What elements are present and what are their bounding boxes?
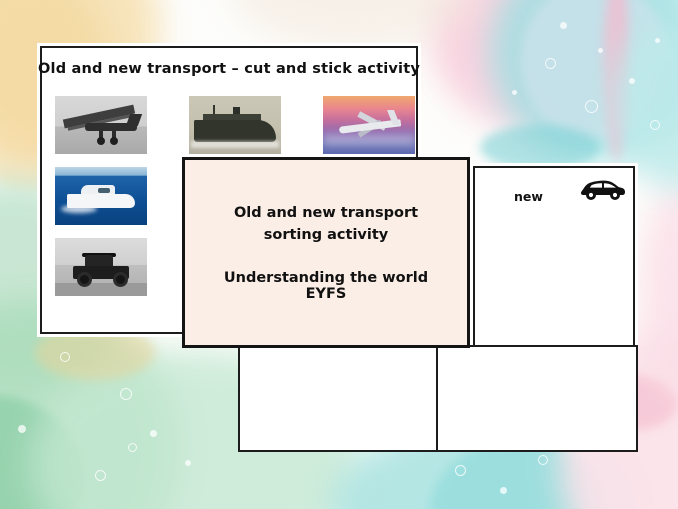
overlay-title-text: Old and new transport sorting activity bbox=[207, 203, 445, 245]
sorting-cell-new[interactable] bbox=[438, 347, 636, 450]
bg-speck bbox=[150, 430, 157, 437]
vintage-monoplane-photo[interactable] bbox=[55, 96, 147, 154]
bg-speck bbox=[629, 78, 635, 84]
bg-speck bbox=[120, 388, 132, 400]
car-wheel-shape bbox=[77, 272, 92, 287]
bg-speck bbox=[95, 470, 106, 481]
bg-speck bbox=[500, 487, 507, 494]
bg-speck bbox=[512, 90, 517, 95]
column-label-new: new bbox=[514, 189, 543, 204]
bg-speck bbox=[585, 100, 598, 113]
image-row bbox=[55, 96, 403, 154]
bg-speck bbox=[560, 22, 567, 29]
car-icon bbox=[580, 176, 626, 202]
overlay-subject-text: Understanding the world EYFS bbox=[207, 270, 445, 302]
bg-speck bbox=[455, 465, 466, 476]
plane-wheel-shape bbox=[97, 137, 105, 145]
sorting-cell-old[interactable] bbox=[240, 347, 438, 450]
bg-speck bbox=[545, 58, 556, 69]
modern-jet-photo[interactable] bbox=[323, 96, 415, 154]
boat-window-shape bbox=[98, 188, 110, 193]
plane-tail-shape bbox=[126, 114, 142, 126]
old-steam-ship-photo[interactable] bbox=[189, 96, 281, 154]
bg-speck bbox=[598, 48, 603, 53]
slide-preview-stage: Old and new transport – cut and stick ac… bbox=[0, 0, 678, 509]
modern-speedboat-photo[interactable] bbox=[55, 167, 147, 225]
bg-speck bbox=[185, 460, 191, 466]
bg-speck bbox=[18, 425, 26, 433]
ship-wake-shape bbox=[191, 141, 279, 148]
car-wheel-shape bbox=[113, 272, 128, 287]
bg-speck bbox=[60, 352, 70, 362]
title-overlay-card[interactable]: Old and new transport sorting activity U… bbox=[182, 157, 470, 348]
car-road-shape bbox=[55, 283, 147, 296]
bg-speck bbox=[128, 443, 137, 452]
ship-hull-shape bbox=[194, 120, 276, 142]
bg-speck bbox=[655, 38, 660, 43]
sorting-grid[interactable] bbox=[238, 345, 638, 452]
jet-cloud-shape bbox=[323, 134, 415, 146]
left-slide-title: Old and new transport – cut and stick ac… bbox=[37, 61, 421, 77]
plane-wheel-shape bbox=[110, 137, 118, 145]
boat-hull-shape bbox=[67, 194, 135, 208]
bg-speck bbox=[538, 455, 548, 465]
vintage-car-photo[interactable] bbox=[55, 238, 147, 296]
bg-speck bbox=[650, 120, 660, 130]
